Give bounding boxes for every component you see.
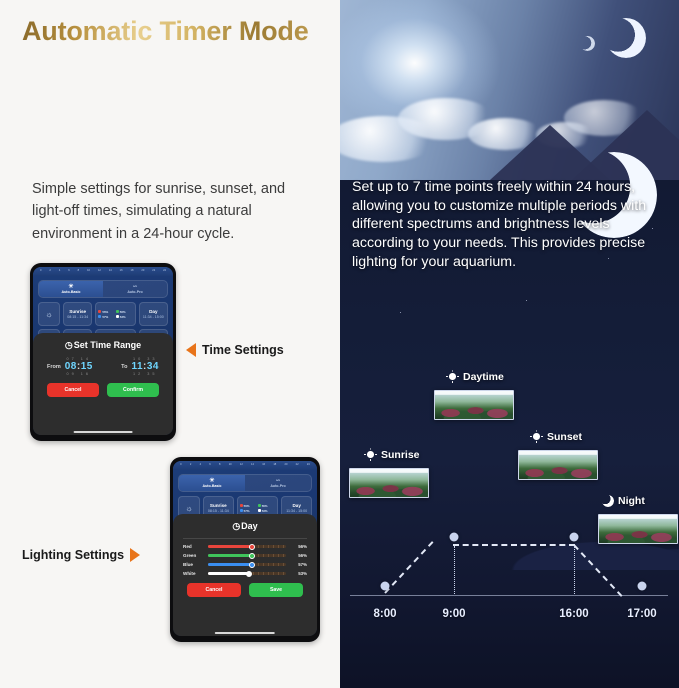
dialog-title: Day xyxy=(241,521,258,531)
axis-tick-label: 17:00 xyxy=(627,608,656,620)
ruler-tick: 14 xyxy=(109,270,112,273)
from-value: 08:15 xyxy=(65,361,93,372)
callout-time-settings: Time Settings xyxy=(186,343,284,357)
home-indicator xyxy=(74,431,133,433)
dialog-title-row: ◷Day xyxy=(181,521,309,532)
home-indicator xyxy=(215,632,275,634)
from-label: From xyxy=(47,364,61,370)
star-icon xyxy=(526,300,527,301)
sky-photo xyxy=(340,0,679,180)
ruler-tick: 2 xyxy=(190,464,191,467)
period-time: 11:34 - 15:00 xyxy=(286,509,307,513)
slider-knob xyxy=(246,571,252,577)
tab-auto-pro-label: Auto-Pro xyxy=(127,290,142,294)
period-time: 08:15 - 11:34 xyxy=(208,509,229,513)
dialog-buttons: Cancel Save xyxy=(181,583,309,597)
slider-knob xyxy=(249,562,255,568)
ruler-tick: 18 xyxy=(273,464,276,467)
slider-value: 57% xyxy=(291,562,307,567)
moon-icon xyxy=(602,495,614,507)
level-blue: 57% xyxy=(98,315,113,319)
level-blue: 57% xyxy=(240,509,256,513)
slider-knob xyxy=(249,544,255,550)
slider-white[interactable]: White 53% xyxy=(183,571,307,576)
ruler-tick: 6 xyxy=(209,464,210,467)
slider-knob xyxy=(249,553,255,559)
timeline-node-8[interactable] xyxy=(381,582,390,591)
time-picker: From 07 14 08:15 09 16 To 10 33 xyxy=(41,357,165,376)
aquarium-thumbnail-night xyxy=(598,514,678,544)
ruler-tick: 8 xyxy=(219,464,220,467)
right-panel: Set up to 7 time points freely within 24… xyxy=(340,0,679,688)
slider-red[interactable]: Red 56% xyxy=(183,544,307,549)
period-name: Sunrise xyxy=(69,309,86,314)
dialog-buttons: Cancel Confirm xyxy=(41,383,165,397)
timeline-ruler-time: 0 2 4 6 8 10 12 14 16 18 20 22 24 xyxy=(33,267,173,276)
period-row[interactable]: ☼ Sunrise 08:15 - 11:34 56% 56% 57% 53% xyxy=(38,302,168,326)
ruler-tick: 12 xyxy=(98,270,101,273)
level-white: 53% xyxy=(116,315,131,319)
period-name: Day xyxy=(149,309,157,314)
level-white: 53% xyxy=(258,509,274,513)
sun-icon xyxy=(446,370,459,383)
triangle-right-icon xyxy=(130,548,140,562)
from-wheel[interactable]: 07 14 08:15 09 16 xyxy=(65,357,93,376)
level-green: 56% xyxy=(258,504,274,508)
slider-track[interactable] xyxy=(208,554,286,557)
left-panel: Automatic Timer Mode Simple settings for… xyxy=(0,0,340,688)
ruler-tick: 6 xyxy=(68,270,69,273)
aquarium-thumbnail-sunrise xyxy=(349,468,429,498)
slider-label: White xyxy=(183,571,203,576)
sun-icon xyxy=(530,430,543,443)
to-wheel[interactable]: 10 33 11:34 12 35 xyxy=(131,357,159,376)
divider xyxy=(183,538,307,539)
stage-label-text: Sunrise xyxy=(381,449,420,461)
ruler-tick: 24 xyxy=(163,270,166,273)
slider-green[interactable]: Green 56% xyxy=(183,553,307,558)
triangle-left-icon xyxy=(186,343,196,357)
aquarium-thumbnail-sunset xyxy=(518,450,598,480)
to-label: To xyxy=(121,364,127,370)
tab-auto-basic-label: Auto-Basic xyxy=(203,484,222,488)
timeline-node-16[interactable] xyxy=(570,533,579,542)
sunrise-icon: ☼ xyxy=(38,302,60,326)
ruler-tick: 0 xyxy=(40,270,41,273)
from-group[interactable]: From 07 14 08:15 09 16 xyxy=(47,357,93,376)
from-hour: 08 xyxy=(65,361,77,372)
callout-time-settings-label: Time Settings xyxy=(202,343,284,357)
axis-tick-label: 9:00 xyxy=(442,608,465,620)
ruler-tick: 14 xyxy=(251,464,254,467)
level-red: 56% xyxy=(98,310,113,314)
from-next: 09 16 xyxy=(65,372,93,376)
period-sunrise[interactable]: Sunrise 08:15 - 11:34 xyxy=(63,302,92,326)
ruler-tick: 8 xyxy=(78,270,79,273)
ruler-tick: 4 xyxy=(200,464,201,467)
period-time: 11:34 - 15:00 xyxy=(143,315,164,319)
to-value: 11:34 xyxy=(131,361,159,372)
day-lighting-dialog: ◷Day Red 56% Green xyxy=(173,514,317,636)
crescent-moon-small-icon xyxy=(580,36,595,51)
slider-label: Red xyxy=(183,544,203,549)
stage-label-sunrise: Sunrise xyxy=(364,448,420,461)
phone-screen-light: 0 2 4 6 8 10 12 14 16 18 20 22 24 ☀ xyxy=(173,461,317,636)
tab-auto-pro-label: Auto-Pro xyxy=(270,484,285,488)
clock-icon: ◷ xyxy=(232,521,240,531)
stage-label-text: Sunset xyxy=(547,431,582,443)
period-time: 08:15 - 11:34 xyxy=(67,315,88,319)
slider-value: 56% xyxy=(291,553,307,558)
timeline-node-17[interactable] xyxy=(638,582,647,591)
ruler-tick: 16 xyxy=(262,464,265,467)
ruler-tick: 22 xyxy=(152,270,155,273)
timeline-segment-plateau xyxy=(453,544,575,546)
stage-label-night: Night xyxy=(602,495,645,507)
level-red: 56% xyxy=(240,504,256,508)
dialog-title-row: ◷Set Time Range xyxy=(41,340,165,351)
cancel-button[interactable]: Cancel xyxy=(187,583,241,597)
slider-label: Blue xyxy=(183,562,203,567)
ruler-tick: 22 xyxy=(296,464,299,467)
timeline-dropline xyxy=(454,546,455,594)
sun-icon xyxy=(364,448,377,461)
slider-track[interactable] xyxy=(208,563,286,566)
crescent-moon-icon xyxy=(606,18,646,58)
set-time-range-dialog: ◷Set Time Range From 07 14 08:15 09 16 xyxy=(33,333,173,435)
axis-tick-label: 16:00 xyxy=(559,608,588,620)
tab-auto-basic-label: Auto-Basic xyxy=(62,290,81,294)
axis-tick-label: 8:00 xyxy=(373,608,396,620)
period-name: Sunrise xyxy=(210,503,227,508)
page-title: Automatic Timer Mode xyxy=(22,16,332,47)
tab-auto-basic[interactable]: ☀ Auto-Basic xyxy=(39,281,103,297)
timeline-axis xyxy=(350,595,668,597)
ruler-tick: 24 xyxy=(307,464,310,467)
slider-track[interactable] xyxy=(208,545,286,548)
ruler-tick: 4 xyxy=(59,270,60,273)
cancel-button[interactable]: Cancel xyxy=(47,383,99,397)
page-root: Automatic Timer Mode Simple settings for… xyxy=(0,0,679,688)
ruler-tick: 2 xyxy=(49,270,50,273)
to-hour: 11 xyxy=(131,361,143,372)
intro-paragraph: Simple settings for sunrise, sunset, and… xyxy=(32,178,304,245)
ruler-tick: 10 xyxy=(229,464,232,467)
tab-auto-pro[interactable]: ∽ Auto-Pro xyxy=(103,281,167,297)
slider-track[interactable] xyxy=(208,572,286,575)
ruler-tick: 10 xyxy=(87,270,90,273)
stage-label-text: Night xyxy=(618,495,645,507)
to-minute: 34 xyxy=(147,361,159,372)
slider-value: 53% xyxy=(291,571,307,576)
ruler-tick: 20 xyxy=(141,270,144,273)
period-name: Day xyxy=(292,503,300,508)
callout-lighting-settings-label: Lighting Settings xyxy=(22,548,124,562)
clock-icon: ◷ xyxy=(65,340,73,350)
mode-tab-group-light: ☀ Auto-Basic ∽ Auto-Pro xyxy=(178,474,312,492)
star-icon xyxy=(400,312,401,313)
stage-label-sunset: Sunset xyxy=(530,430,582,443)
phone-mockup-lighting-settings: 0 2 4 6 8 10 12 14 16 18 20 22 24 ☀ xyxy=(170,457,320,642)
ruler-tick: 12 xyxy=(240,464,243,467)
slider-blue[interactable]: Blue 57% xyxy=(183,562,307,567)
dialog-title: Set Time Range xyxy=(74,340,141,350)
from-minute: 15 xyxy=(81,361,93,372)
tab-auto-basic[interactable]: ☀ Auto-Basic xyxy=(179,475,245,491)
confirm-button[interactable]: Confirm xyxy=(107,383,159,397)
timeline-node-9[interactable] xyxy=(450,533,459,542)
timeline-dropline xyxy=(574,546,575,594)
slider-label: Green xyxy=(183,553,203,558)
right-description: Set up to 7 time points freely within 24… xyxy=(352,178,668,272)
save-button[interactable]: Save xyxy=(249,583,303,597)
timeline-ruler-light: 0 2 4 6 8 10 12 14 16 18 20 22 24 xyxy=(173,461,317,470)
phone-mockup-time-settings: 0 2 4 6 8 10 12 14 16 18 20 22 24 ☀ xyxy=(30,263,176,441)
ruler-tick: 20 xyxy=(285,464,288,467)
stage-label-daytime: Daytime xyxy=(446,370,504,383)
tab-auto-pro[interactable]: ∽ Auto-Pro xyxy=(245,475,311,491)
ruler-tick: 0 xyxy=(180,464,181,467)
ruler-tick: 16 xyxy=(120,270,123,273)
period-levels: 56% 56% 57% 53% xyxy=(95,302,135,326)
callout-lighting-settings: Lighting Settings xyxy=(22,548,140,562)
aquarium-thumbnail-daytime xyxy=(434,390,514,420)
slider-value: 56% xyxy=(291,544,307,549)
to-group[interactable]: To 10 33 11:34 12 35 xyxy=(121,357,159,376)
to-next: 12 35 xyxy=(131,372,159,376)
phone-screen-time: 0 2 4 6 8 10 12 14 16 18 20 22 24 ☀ xyxy=(33,267,173,435)
stage-label-text: Daytime xyxy=(463,371,504,383)
mode-tab-group-time: ☀ Auto-Basic ∽ Auto-Pro xyxy=(38,280,168,298)
level-green: 56% xyxy=(116,310,131,314)
period-day[interactable]: Day 11:34 - 15:00 xyxy=(139,302,168,326)
ruler-tick: 18 xyxy=(131,270,134,273)
